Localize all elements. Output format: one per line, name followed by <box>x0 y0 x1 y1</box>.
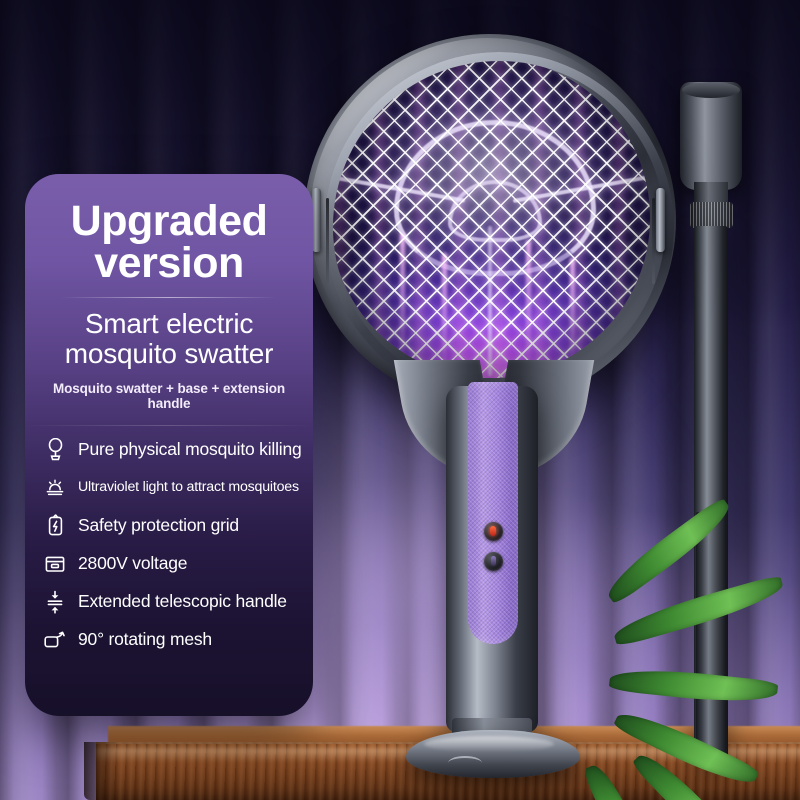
subtitle-line-2: mosquito swatter <box>45 339 293 369</box>
power-button <box>484 522 503 541</box>
lamp-icon <box>43 438 67 462</box>
headline-line-2: version <box>45 242 293 284</box>
palm-plant <box>600 556 800 800</box>
package-contents-note: Mosquito swatter + base + extension hand… <box>45 381 293 411</box>
feature-list: Pure physical mosquito killing Ultraviol… <box>25 438 313 652</box>
purple-textured-grip <box>468 382 518 644</box>
mode-button-icon <box>491 556 496 566</box>
page-title: Upgraded version <box>45 200 293 284</box>
feature-label: Pure physical mosquito killing <box>78 440 302 459</box>
headline-line-1: Upgraded <box>71 197 268 245</box>
hinge-bar-right <box>652 198 655 284</box>
feature-item-ultraviolet: Ultraviolet light to attract mosquitoes <box>43 476 301 500</box>
palm-frond <box>612 703 760 793</box>
palm-frond <box>609 664 779 707</box>
product-marketing-image: Upgraded version Smart electric mosquito… <box>0 0 800 800</box>
rotate-mesh-icon <box>43 628 67 652</box>
feature-label: Extended telescopic handle <box>78 592 287 611</box>
telescopic-icon <box>43 590 67 614</box>
product-subtitle: Smart electric mosquito swatter <box>45 309 293 368</box>
feature-item-voltage: 2800V voltage <box>43 552 301 576</box>
mode-button <box>484 552 503 571</box>
led-indicator <box>490 526 496 536</box>
rotating-hinge-left <box>312 188 321 252</box>
base-notch <box>448 756 482 770</box>
title-divider <box>61 297 277 298</box>
battery-bolt-icon <box>43 514 67 538</box>
uv-light-icon <box>43 476 67 500</box>
feature-item-telescopic: Extended telescopic handle <box>43 590 301 614</box>
product-info-card: Upgraded version Smart electric mosquito… <box>25 174 313 716</box>
rotating-hinge-right <box>656 188 665 252</box>
feature-label: 90° rotating mesh <box>78 630 212 649</box>
feature-item-pure-physical: Pure physical mosquito killing <box>43 438 301 462</box>
grid-box-icon <box>43 552 67 576</box>
racket-inner-ring <box>324 52 674 402</box>
feature-label: 2800V voltage <box>78 554 187 573</box>
feature-item-safety-grid: Safety protection grid <box>43 514 301 538</box>
card-section-divider <box>25 425 313 426</box>
feature-item-rotating-mesh: 90° rotating mesh <box>43 628 301 652</box>
subtitle-line-1: Smart electric <box>85 308 253 339</box>
card-header: Upgraded version Smart electric mosquito… <box>25 174 313 411</box>
table-left-shadow <box>84 742 118 800</box>
feature-label: Safety protection grid <box>78 516 239 535</box>
base-highlight <box>424 736 554 752</box>
hinge-bar-left <box>326 198 329 284</box>
feature-label: Ultraviolet light to attract mosquitoes <box>78 480 299 496</box>
